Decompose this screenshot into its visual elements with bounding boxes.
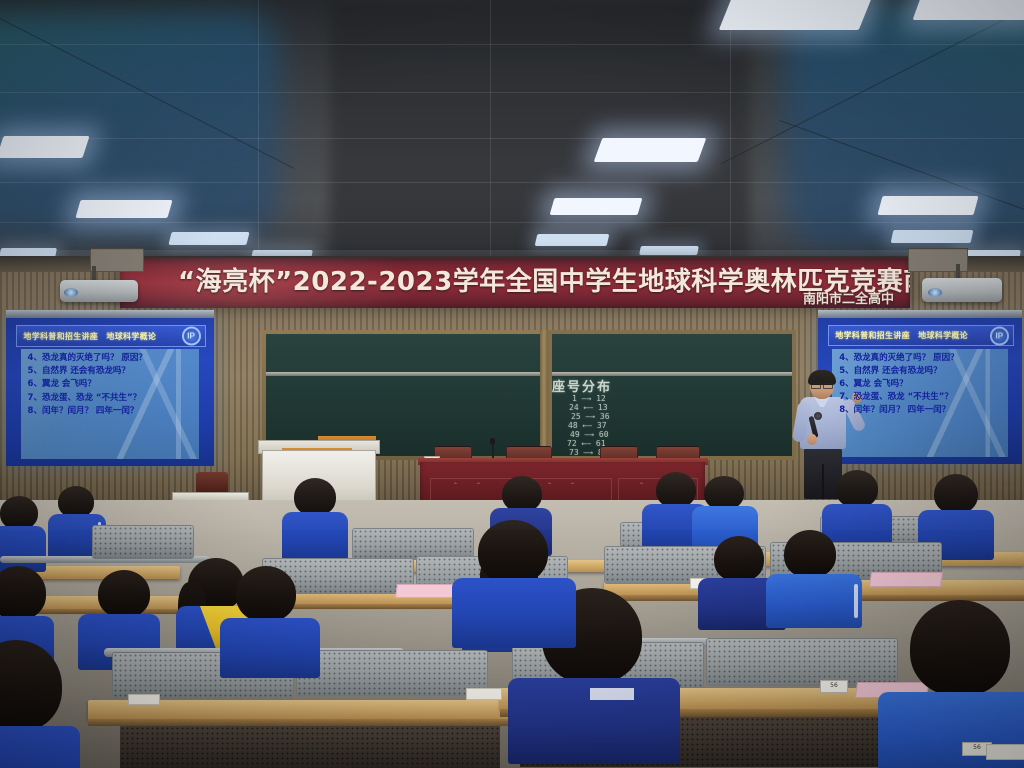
blackboard-title: 座号分布 — [552, 376, 612, 395]
ceiling-light — [168, 232, 249, 245]
ceiling-light — [75, 200, 172, 218]
blackboard-divider — [540, 330, 548, 460]
ceiling-grid-line — [0, 92, 1024, 93]
student-uniform — [0, 726, 80, 768]
slide-line: 4、恐龙真的灭绝了吗？ 原因？ — [21, 352, 200, 365]
slide-line: 8、闰年？闰月？ 四年一闰？ — [832, 404, 1007, 417]
student-head — [656, 472, 696, 508]
ceiling — [0, 0, 1024, 268]
student-head — [502, 476, 542, 512]
seat-back — [296, 650, 488, 696]
banner-title-text: “海亮杯”2022-2023学年全国中学生地球科学奥林匹克竞赛南阳赛区 — [178, 261, 868, 298]
screen-roller — [6, 310, 214, 318]
projector-lens-icon — [64, 288, 78, 297]
ceiling-grid-line — [258, 0, 259, 268]
projector-left — [52, 248, 162, 310]
lecture-hall-photo: “海亮杯”2022-2023学年全国中学生地球科学奥林匹克竞赛南阳赛区 南阳市二… — [0, 0, 1024, 768]
seat-back — [706, 638, 898, 686]
paper-slip — [466, 688, 502, 700]
ceiling-light — [891, 230, 974, 243]
blackboard-row: 24 ←— 13 — [569, 403, 608, 412]
left-projection-screen: 地学科普和招生讲座 地球科学概论 IP 4、恐龙真的灭绝了吗？ 原因？ 5、自然… — [6, 318, 214, 466]
ceiling-light — [0, 136, 90, 158]
seat-number-card: 56 — [820, 680, 848, 693]
student-head — [784, 530, 836, 578]
student-head — [836, 470, 878, 508]
ceiling-grid-line — [730, 0, 731, 268]
ceiling-light — [550, 198, 643, 215]
ceiling-grid-line — [0, 44, 1024, 45]
slide-line: 8、闰年？闰月？ 四年一闰？ — [21, 405, 200, 418]
student-head — [236, 566, 296, 622]
slide-line: 6、翼龙 会飞吗？ — [21, 378, 200, 391]
screen-roller — [818, 310, 1022, 318]
uniform-stripe — [854, 584, 858, 618]
student-uniform — [220, 618, 320, 678]
slide-header-bar: 地学科普和招生讲座 地球科学概论 IP — [828, 325, 1014, 346]
institution-logo-icon: IP — [990, 326, 1009, 345]
speaker-hand-left — [807, 434, 817, 445]
slide-line: 4、恐龙真的灭绝了吗？ 原因？ — [832, 352, 1007, 365]
blackboard-row: 49 —→ 60 — [570, 430, 609, 439]
student-head — [704, 476, 744, 510]
ceiling-grid-line — [0, 222, 1024, 223]
student-head — [98, 570, 150, 618]
event-banner: “海亮杯”2022-2023学年全国中学生地球科学奥林匹克竞赛南阳赛区 南阳市二… — [120, 258, 910, 308]
side-chair-back — [196, 472, 228, 492]
banner-subtitle-text: 南阳市二全高中 — [803, 288, 894, 307]
student-head — [0, 496, 38, 530]
paper-slip — [986, 744, 1024, 760]
student-uniform — [452, 578, 576, 648]
slide-line: 5、自然界 还会有恐龙吗？ — [832, 365, 1007, 378]
slide-line: 5、自然界 还会有恐龙吗？ — [21, 365, 200, 378]
blackboard-row: 1 —→ 12 — [572, 394, 606, 403]
ceiling-light — [877, 196, 978, 215]
uniform-collar-stripe — [590, 688, 634, 700]
screen-surface: 地学科普和招生讲座 地球科学概论 IP 4、恐龙真的灭绝了吗？ 原因？ 5、自然… — [6, 318, 214, 466]
slide-header-bar: 地学科普和招生讲座 地球科学概论 IP — [16, 325, 205, 346]
student-head — [294, 478, 336, 516]
projector-mount — [90, 248, 144, 272]
institution-logo-icon: IP — [182, 327, 201, 346]
student-head — [934, 474, 978, 514]
slide-content-box: 4、恐龙真的灭绝了吗？ 原因？ 5、自然界 还会有恐龙吗？ 6、翼龙 会飞吗？ … — [21, 349, 200, 459]
speaker-glasses-icon — [811, 382, 833, 387]
student-uniform — [766, 574, 862, 628]
student-uniform — [282, 512, 348, 560]
speaker-leg-split — [822, 464, 824, 499]
slide-content-box: 4、恐龙真的灭绝了吗？ 原因？ 5、自然界 还会有恐龙吗？ 6、翼龙 会飞吗？ … — [832, 349, 1007, 457]
blackboard-row: 25 —→ 36 — [571, 412, 610, 421]
ceiling-grid-line — [490, 0, 491, 268]
seat-back — [92, 525, 194, 559]
student-head — [714, 536, 764, 582]
chalk-rail — [266, 372, 543, 376]
ceiling-light — [639, 246, 699, 255]
ceiling-light — [594, 138, 707, 162]
student-uniform — [0, 526, 46, 572]
ceiling-light — [719, 0, 874, 30]
slide-line: 7、恐龙蛋、恐龙 “不共生”？ — [832, 391, 1007, 404]
projector-right — [900, 248, 1020, 310]
projector-lens-icon — [928, 288, 942, 297]
answer-sheet — [869, 572, 943, 587]
slide-line: 6、翼龙 会飞吗？ — [832, 378, 1007, 391]
blackboard-left — [266, 334, 543, 456]
desk-edge — [88, 719, 508, 726]
speaker-microphone-head-icon — [814, 412, 822, 420]
student-head — [910, 600, 1010, 696]
slide-line: 7、恐龙蛋、恐龙 “不共生”？ — [21, 392, 200, 405]
slide-left: 地学科普和招生讲座 地球科学概论 IP 4、恐龙真的灭绝了吗？ 原因？ 5、自然… — [6, 318, 214, 466]
ceiling-grid-line — [0, 182, 1024, 183]
slide-header-label: 地学科普和招生讲座 地球科学概论 — [829, 330, 968, 341]
ceiling-shadow — [330, 0, 750, 268]
ceiling-grid-line — [0, 138, 1024, 139]
ceiling-light — [913, 0, 1024, 20]
blackboard-row: 48 ←— 37 — [568, 421, 607, 430]
slide-header-label: 地学科普和招生讲座 地球科学概论 — [17, 331, 156, 342]
ceiling-light — [535, 234, 610, 246]
desk-undershelf — [120, 726, 500, 768]
paper-slip — [128, 694, 160, 705]
desk-microphone-icon — [490, 438, 495, 445]
student-head — [478, 520, 548, 584]
